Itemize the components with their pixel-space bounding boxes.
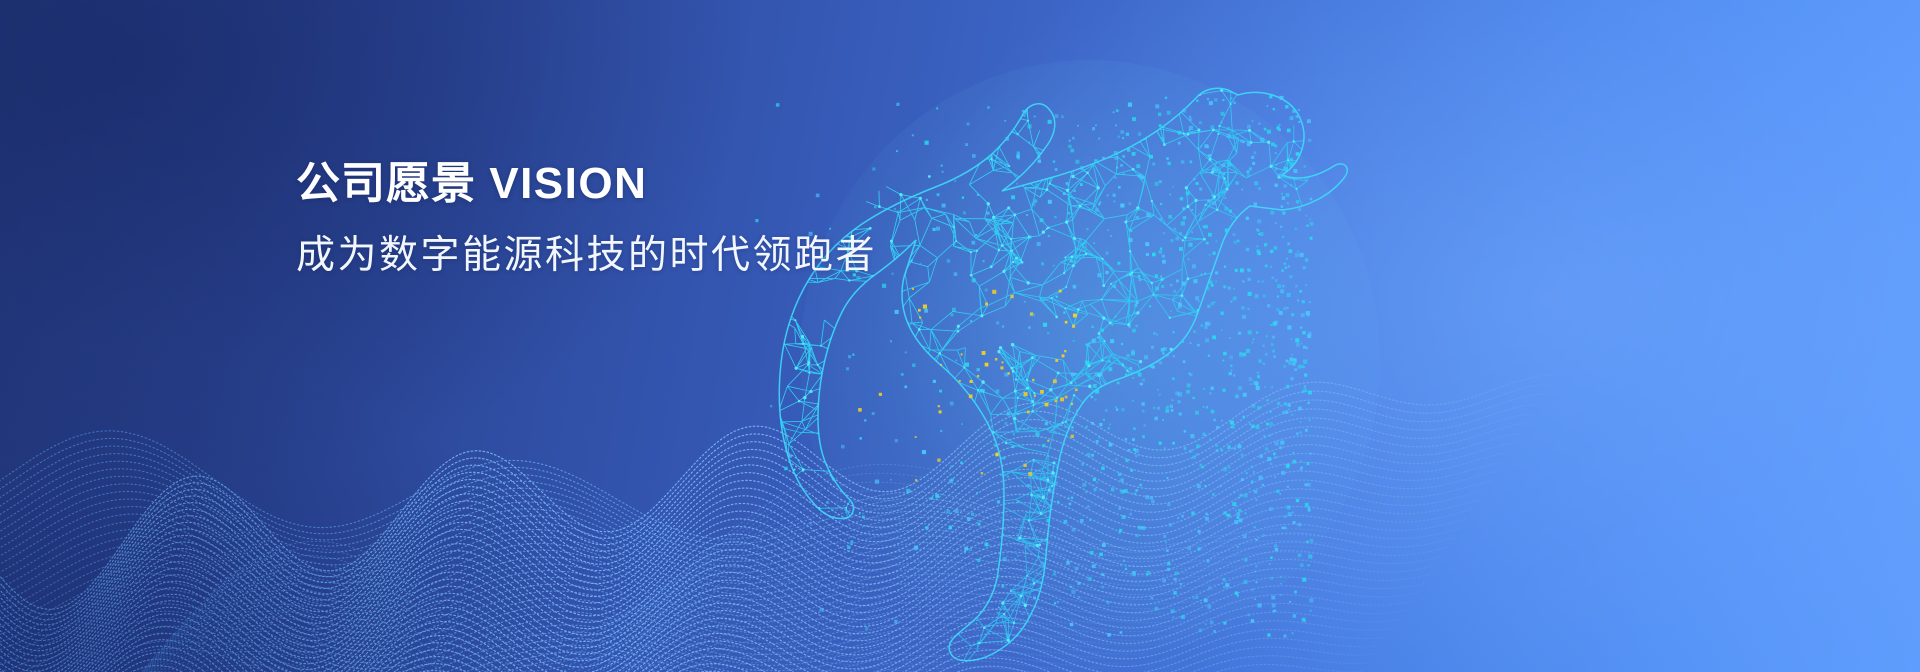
title-english: VISION	[489, 159, 647, 208]
title-chinese: 公司愿景	[296, 159, 476, 208]
page-subtitle: 成为数字能源科技的时代领跑者	[296, 234, 877, 279]
headline-block: 公司愿景 VISION 成为数字能源科技的时代领跑者	[296, 160, 877, 278]
page-title: 公司愿景 VISION	[296, 160, 877, 208]
particle-dissolve	[0, 0, 1920, 672]
vision-banner: 公司愿景 VISION 成为数字能源科技的时代领跑者	[0, 0, 1920, 672]
